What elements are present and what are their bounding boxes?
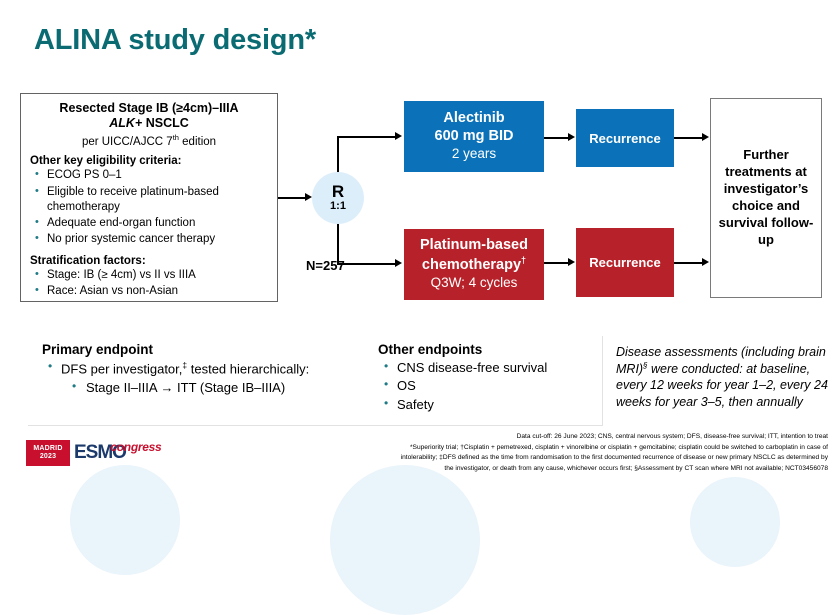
eligibility-subheader: per UICC/AJCC 7th edition (30, 133, 268, 149)
arrow-head-icon (702, 258, 709, 266)
arm-chemo-schedule: Q3W; 4 cycles (431, 274, 518, 292)
arrow-head-icon (568, 133, 575, 141)
stratification-list: Stage: IB (≥ 4cm) vs II vs IIIA Race: As… (30, 268, 268, 300)
arrow-head-icon (568, 258, 575, 266)
arm-chemo-dagger: † (521, 255, 526, 265)
arm-chemo-line1: Platinum-based (420, 237, 528, 254)
arrow-head-icon (395, 132, 402, 140)
endpoints-panel: Primary endpoint DFS per investigator,‡ … (28, 336, 603, 426)
connector-to-alectinib (337, 136, 395, 138)
list-item: Stage: IB (≥ 4cm) vs II vs IIIA (30, 268, 268, 283)
page-title: ALINA study design* (34, 24, 316, 57)
subheader-pre: per UICC/AJCC 7 (82, 135, 173, 147)
randomization-node: R 1:1 (312, 172, 364, 224)
connector-recurrence-bottom-to-further (674, 262, 702, 264)
criteria-label: Other key eligibility criteria: (30, 155, 268, 167)
list-item: DFS per investigator,‡ tested hierarchic… (42, 359, 392, 379)
eligibility-box: Resected Stage IB (≥4cm)–IIIA ALK+ NSCLC… (20, 93, 278, 302)
recurrence-box-alectinib: Recurrence (576, 109, 674, 167)
connector-alectinib-to-recurrence (544, 137, 568, 139)
other-endpoints-list: CNS disease-free survival OS Safety (378, 359, 598, 414)
list-item: ECOG PS 0–1 (30, 168, 268, 183)
list-item: Safety (378, 396, 598, 414)
criteria-list: ECOG PS 0–1 Eligible to receive platinum… (30, 168, 268, 247)
other-endpoints-column: Other endpoints CNS disease-free surviva… (378, 342, 598, 414)
esmo-logo: ESMO congress (74, 443, 181, 463)
subheader-post: edition (179, 135, 216, 147)
footnote-line: *Superiority trial; †Cisplatin + pemetre… (250, 443, 828, 454)
disease-assessments-note: Disease assessments (including brain MRI… (616, 344, 834, 410)
alk-label: ALK+ (109, 116, 142, 130)
primary-endpoint-text: DFS per investigator, (61, 361, 182, 376)
madrid-logo-line2: 2023 (40, 453, 56, 461)
connector-recurrence-top-to-further (674, 137, 702, 139)
randomization-symbol: R (332, 183, 344, 200)
list-item: CNS disease-free survival (378, 359, 598, 377)
connector-to-chemotherapy (337, 263, 395, 265)
list-item: No prior systemic cancer therapy (30, 232, 268, 247)
assessments-post: were conducted: at baseline, every 12 we… (616, 362, 828, 409)
footnote-line: the investigator, or death from any caus… (250, 464, 828, 475)
connector-chemo-to-recurrence (544, 262, 568, 264)
arm-alectinib: Alectinib 600 mg BID 2 years (404, 101, 544, 172)
eligibility-header-line1: Resected Stage IB (≥4cm)–IIIA (30, 101, 268, 116)
congress-logo-text: congress (110, 440, 161, 454)
decorative-circle (690, 477, 780, 567)
randomization-ratio: 1:1 (330, 200, 346, 212)
footnote-line: intolerability; ‡DFS defined as the time… (250, 453, 828, 464)
recurrence-box-chemotherapy: Recurrence (576, 228, 674, 297)
arm-alectinib-dose: 600 mg BID (435, 128, 514, 145)
arm-alectinib-duration: 2 years (452, 145, 496, 163)
arm-chemo-line2-text: chemotherapy (422, 257, 521, 273)
list-item: Eligible to receive platinum-based chemo… (30, 185, 268, 216)
madrid-logo-line1: MADRID (33, 445, 62, 453)
arrow-head-icon (395, 259, 402, 267)
list-item: Stage II–IIIA → ITT (Stage IB–IIIA) (42, 379, 392, 397)
logo-group: MADRID 2023 ESMO congress (26, 440, 181, 466)
arm-alectinib-drug: Alectinib (443, 110, 504, 127)
eligibility-header: Resected Stage IB (≥4cm)–IIIA ALK+ NSCLC… (30, 101, 268, 148)
arm-chemo-line2: chemotherapy† (422, 255, 526, 274)
primary-endpoint-column: Primary endpoint DFS per investigator,‡ … (42, 342, 392, 397)
decorative-circle (70, 465, 180, 575)
primary-endpoint-text-post: tested hierarchically: (187, 361, 309, 376)
connector-up-stem (337, 136, 339, 176)
decorative-circle (330, 465, 480, 615)
list-item: Adequate end-organ function (30, 216, 268, 231)
nsclc-label: NSCLC (142, 116, 189, 130)
primary-endpoint-list: DFS per investigator,‡ tested hierarchic… (42, 359, 392, 397)
arrow-head-icon (702, 133, 709, 141)
other-endpoints-title: Other endpoints (378, 342, 598, 357)
eligibility-header-line2: ALK+ NSCLC (30, 116, 268, 131)
footnote-line: Data cut-off: 26 June 2023; CNS, central… (250, 432, 828, 443)
arm-chemotherapy: Platinum-based chemotherapy† Q3W; 4 cycl… (404, 229, 544, 300)
list-item: Race: Asian vs non-Asian (30, 284, 268, 299)
list-item: OS (378, 377, 598, 395)
sample-size-label: N=257 (306, 258, 345, 273)
primary-endpoint-title: Primary endpoint (42, 342, 392, 357)
further-treatments-box: Further treatments at investigator’s cho… (710, 98, 822, 298)
arrow-head-icon (305, 193, 312, 201)
slide-canvas: ALINA study design* Resected Stage IB (≥… (0, 0, 840, 505)
madrid-2023-logo: MADRID 2023 (26, 440, 70, 466)
connector-box-to-randomization (278, 197, 305, 199)
footnotes: Data cut-off: 26 June 2023; CNS, central… (250, 432, 828, 475)
stratification-label: Stratification factors: (30, 255, 268, 267)
